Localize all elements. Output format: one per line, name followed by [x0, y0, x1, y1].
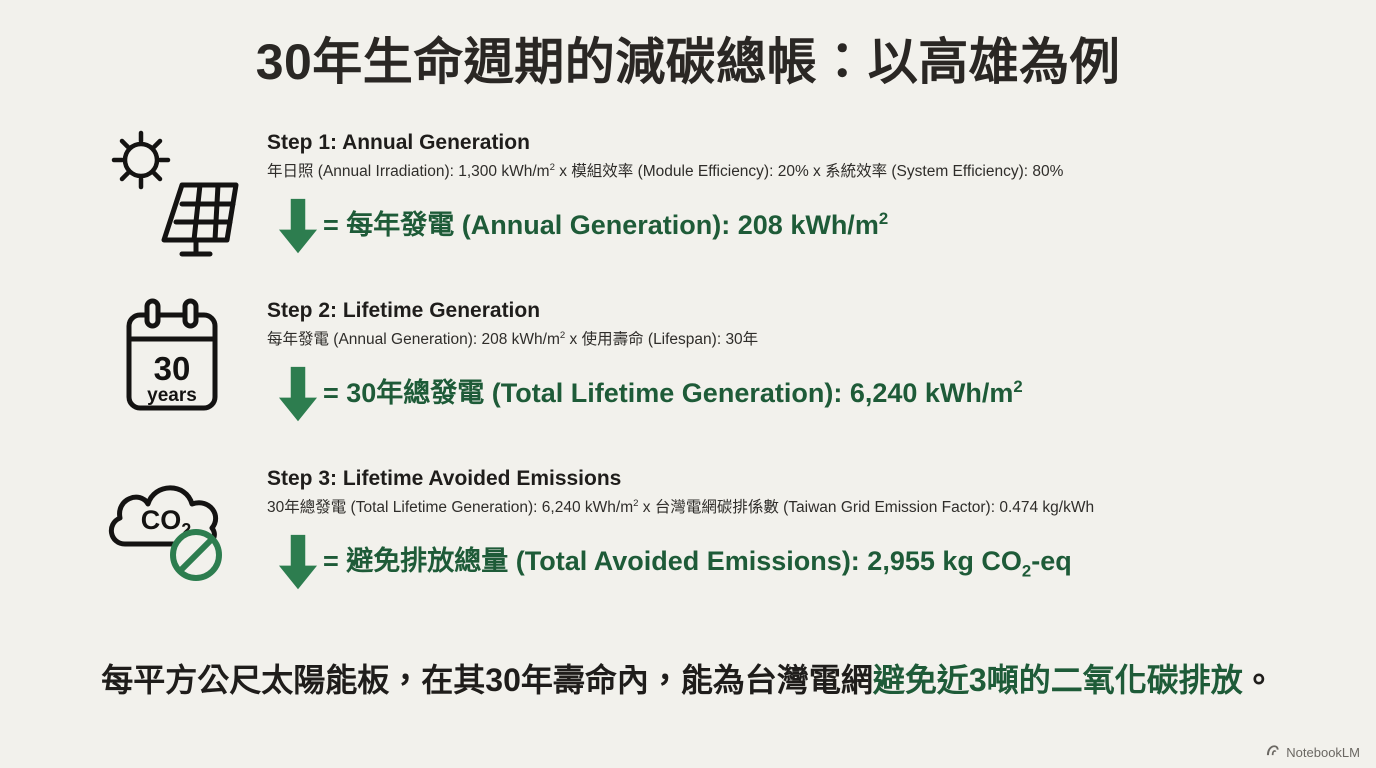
step-2-body: Step 2: Lifetime Generation 每年發電 (Annual… [267, 298, 1356, 423]
conclusion-statement: 每平方公尺太陽能板，在其30年壽命內，能為台灣電網避免近3噸的二氧化碳排放。 [0, 660, 1376, 702]
calendar-unit: years [147, 385, 197, 406]
calendar-30-years-icon: 30 years [96, 298, 246, 428]
notebooklm-spiral-icon [1265, 744, 1280, 760]
calendar-number: 30 [154, 350, 191, 387]
step-1-heading: Step 1: Annual Generation [267, 130, 1356, 156]
down-arrow-icon [267, 365, 329, 423]
notebooklm-watermark: NotebookLM [1265, 744, 1360, 760]
down-arrow-icon [267, 197, 329, 255]
conclusion-tail: 。 [1243, 662, 1275, 698]
step-3-result-row: = 避免排放總量 (Total Avoided Emissions): 2,95… [267, 533, 1356, 591]
conclusion-lead: 每平方公尺太陽能板，在其30年壽命內，能為台灣電網 [101, 662, 873, 698]
step-3-body: Step 3: Lifetime Avoided Emissions 30年總發… [267, 466, 1356, 591]
step-2-formula: 每年發電 (Annual Generation): 208 kWh/m2 x 使… [267, 330, 1356, 351]
solar-panel-sun-icon [96, 130, 246, 260]
co2-no-emissions-cloud-icon: CO2 [96, 466, 246, 596]
step-1-result: = 每年發電 (Annual Generation): 208 kWh/m2 [323, 209, 888, 243]
infographic-slide: 30年生命週期的減碳總帳：以高雄為例 [0, 0, 1376, 768]
notebooklm-label: NotebookLM [1286, 745, 1360, 760]
step-2-result: = 30年總發電 (Total Lifetime Generation): 6,… [323, 377, 1023, 411]
step-2-result-row: = 30年總發電 (Total Lifetime Generation): 6,… [267, 365, 1356, 423]
step-3-result: = 避免排放總量 (Total Avoided Emissions): 2,95… [323, 545, 1072, 579]
step-1-result-row: = 每年發電 (Annual Generation): 208 kWh/m2 [267, 197, 1356, 255]
down-arrow-icon [267, 533, 329, 591]
conclusion-highlight: 避免近3噸的二氧化碳排放 [873, 662, 1243, 698]
step-3-formula: 30年總發電 (Total Lifetime Generation): 6,24… [267, 498, 1356, 519]
step-2: 30 years Step 2: Lifetime Generation 每年發… [0, 298, 1376, 466]
page-title: 30年生命週期的減碳總帳：以高雄為例 [0, 32, 1376, 92]
step-3: CO2 Step 3: Lifetime Avoided Emissions 3… [0, 466, 1376, 634]
step-2-heading: Step 2: Lifetime Generation [267, 298, 1356, 324]
step-1-formula: 年日照 (Annual Irradiation): 1,300 kWh/m2 x… [267, 162, 1356, 183]
step-1-body: Step 1: Annual Generation 年日照 (Annual Ir… [267, 130, 1356, 255]
step-1: Step 1: Annual Generation 年日照 (Annual Ir… [0, 130, 1376, 298]
steps-container: Step 1: Annual Generation 年日照 (Annual Ir… [0, 130, 1376, 634]
step-3-heading: Step 3: Lifetime Avoided Emissions [267, 466, 1356, 492]
